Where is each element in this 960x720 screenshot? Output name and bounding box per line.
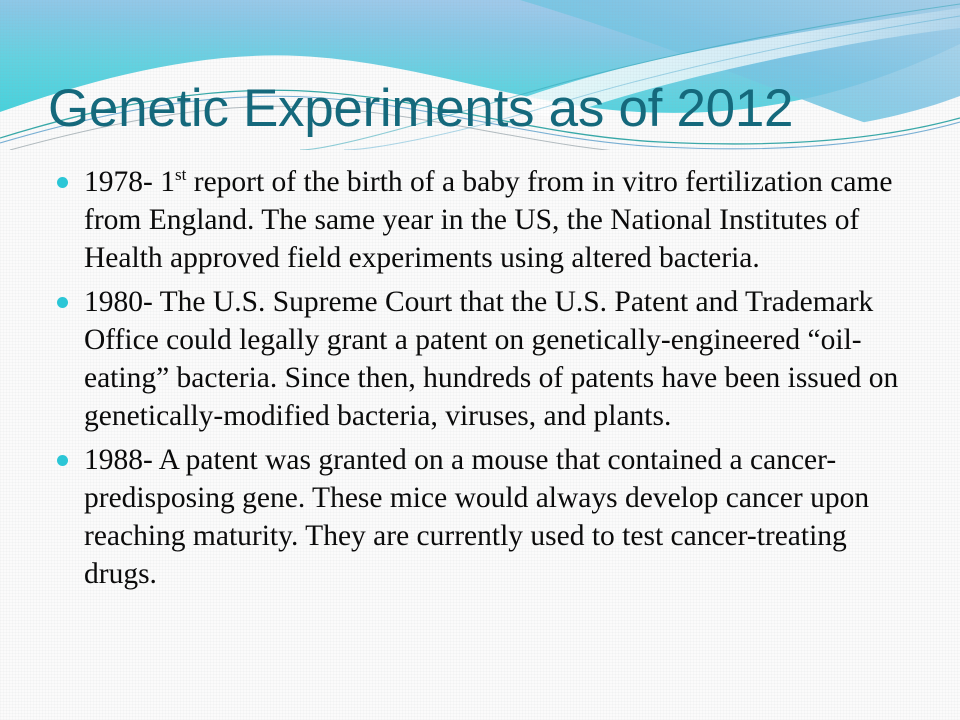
- bullet-text-1978: 1978- 1st report of the birth of a baby …: [84, 163, 924, 277]
- bullet-list: 1978- 1st report of the birth of a baby …: [44, 163, 924, 599]
- slide-title: Genetic Experiments as of 2012: [48, 79, 928, 139]
- bullet-item-1978: 1978- 1st report of the birth of a baby …: [44, 163, 924, 277]
- round-bullet-icon: [57, 177, 68, 188]
- presentation-slide: Genetic Experiments as of 2012 1978- 1st…: [0, 0, 960, 720]
- bullet-item-1980: 1980- The U.S. Supreme Court that the U.…: [44, 283, 924, 435]
- bullet-text-1978-after: report of the birth of a baby from in vi…: [84, 166, 893, 274]
- round-bullet-icon: [57, 455, 68, 466]
- round-bullet-icon: [57, 297, 68, 308]
- ordinal-superscript: st: [175, 165, 186, 184]
- bullet-text-1980: 1980- The U.S. Supreme Court that the U.…: [84, 283, 924, 435]
- bullet-text-1988: 1988- A patent was granted on a mouse th…: [84, 441, 924, 593]
- bullet-item-1988: 1988- A patent was granted on a mouse th…: [44, 441, 924, 593]
- bullet-text-1978-before: 1978- 1: [84, 166, 175, 198]
